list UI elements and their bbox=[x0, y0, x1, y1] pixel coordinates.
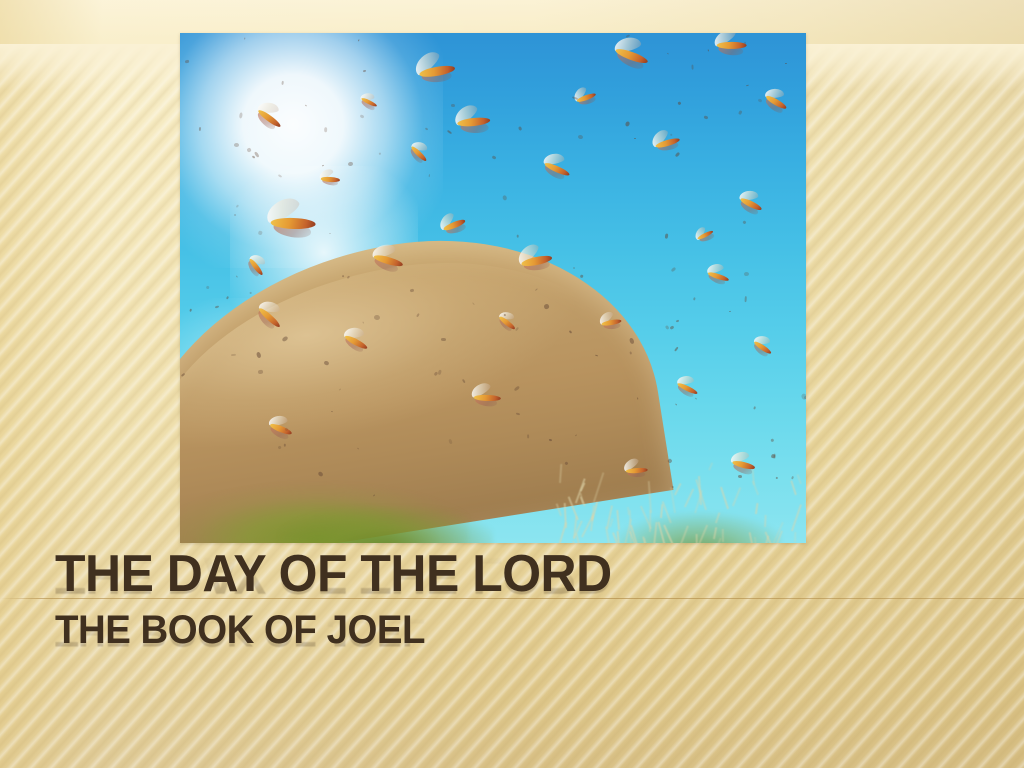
grass-blade bbox=[564, 503, 567, 528]
distant-locust-speck bbox=[580, 274, 583, 277]
distant-locust-speck bbox=[670, 266, 676, 272]
locust bbox=[468, 382, 505, 419]
distant-locust-speck bbox=[744, 272, 750, 276]
grass-blade bbox=[791, 504, 801, 531]
distant-locust-speck bbox=[674, 347, 679, 352]
title-block: THE DAY OF THE LORD THE BOOK OF JOEL THE… bbox=[0, 548, 1024, 768]
locust bbox=[669, 372, 704, 407]
grass-blade bbox=[572, 541, 574, 543]
grass-blade bbox=[609, 518, 613, 527]
slide-photo bbox=[180, 33, 806, 543]
vegetation-shape bbox=[280, 507, 493, 543]
locust bbox=[365, 241, 408, 284]
distant-locust-speck bbox=[331, 411, 333, 412]
locust bbox=[317, 168, 343, 194]
distant-locust-speck bbox=[753, 407, 756, 410]
locust bbox=[647, 124, 689, 166]
locust bbox=[709, 33, 752, 70]
distant-locust-speck bbox=[675, 403, 677, 405]
distant-locust-speck bbox=[704, 115, 709, 119]
grass-blade bbox=[605, 526, 612, 543]
distant-locust-speck bbox=[258, 369, 263, 373]
distant-locust-speck bbox=[692, 64, 694, 69]
distant-locust-speck bbox=[573, 267, 576, 269]
grass-blade bbox=[796, 474, 801, 484]
distant-locust-speck bbox=[447, 130, 452, 135]
distant-locust-speck bbox=[527, 434, 530, 438]
distant-locust-speck bbox=[785, 63, 787, 64]
distant-locust-speck bbox=[347, 161, 353, 166]
locust bbox=[745, 332, 780, 367]
grass-blade bbox=[674, 483, 681, 495]
presentation-slide: THE DAY OF THE LORD THE BOOK OF JOEL THE… bbox=[0, 0, 1024, 768]
distant-locust-speck bbox=[451, 103, 455, 106]
distant-locust-speck bbox=[738, 110, 742, 115]
distant-locust-speck bbox=[672, 486, 674, 488]
distant-locust-speck bbox=[707, 50, 709, 53]
grass-blade bbox=[794, 532, 796, 542]
distant-locust-speck bbox=[771, 438, 774, 442]
distant-locust-speck bbox=[670, 133, 672, 135]
distant-locust-speck bbox=[742, 220, 746, 224]
locust bbox=[755, 85, 794, 124]
distant-locust-speck bbox=[502, 195, 508, 201]
distant-locust-speck bbox=[667, 52, 669, 53]
distant-locust-speck bbox=[205, 285, 209, 289]
distant-locust-speck bbox=[669, 326, 674, 331]
locust bbox=[731, 187, 769, 225]
distant-locust-speck bbox=[693, 297, 696, 300]
distant-locust-speck bbox=[791, 477, 793, 480]
distant-locust-speck bbox=[746, 85, 749, 87]
grass-blade bbox=[805, 477, 806, 508]
distant-locust-speck bbox=[281, 81, 284, 85]
distant-locust-speck bbox=[744, 41, 746, 43]
distant-locust-speck bbox=[578, 135, 584, 140]
grass-blade bbox=[709, 462, 714, 470]
distant-locust-speck bbox=[676, 319, 680, 322]
page-subtitle: THE BOOK OF JOEL bbox=[55, 610, 919, 650]
locust bbox=[605, 33, 657, 85]
locust bbox=[727, 450, 760, 483]
distant-locust-speck bbox=[491, 155, 496, 160]
distant-locust-speck bbox=[441, 338, 446, 341]
distant-locust-speck bbox=[745, 297, 748, 303]
grass-blade bbox=[732, 487, 741, 506]
distant-locust-speck bbox=[516, 234, 518, 237]
distant-locust-speck bbox=[518, 126, 522, 131]
distant-locust-speck bbox=[776, 476, 778, 478]
locust bbox=[702, 262, 734, 294]
locust bbox=[261, 195, 325, 259]
grass-blade bbox=[576, 533, 580, 543]
title-text-group: THE DAY OF THE LORD THE BOOK OF JOEL THE… bbox=[55, 548, 955, 650]
grass-blade bbox=[720, 487, 728, 509]
locust bbox=[620, 455, 653, 488]
distant-locust-speck bbox=[625, 121, 631, 127]
locust bbox=[691, 222, 722, 253]
distant-locust-speck bbox=[677, 101, 681, 105]
grass-blade bbox=[684, 488, 694, 507]
locust bbox=[449, 99, 500, 150]
locust bbox=[535, 150, 577, 192]
distant-locust-speck bbox=[729, 311, 731, 312]
grass-blade bbox=[790, 481, 796, 496]
page-title: THE DAY OF THE LORD bbox=[55, 548, 919, 600]
locust-swarm-photo bbox=[180, 33, 806, 543]
distant-locust-speck bbox=[665, 234, 668, 239]
grass-blade bbox=[649, 510, 651, 532]
distant-locust-speck bbox=[634, 138, 636, 139]
distant-locust-speck bbox=[250, 291, 252, 293]
